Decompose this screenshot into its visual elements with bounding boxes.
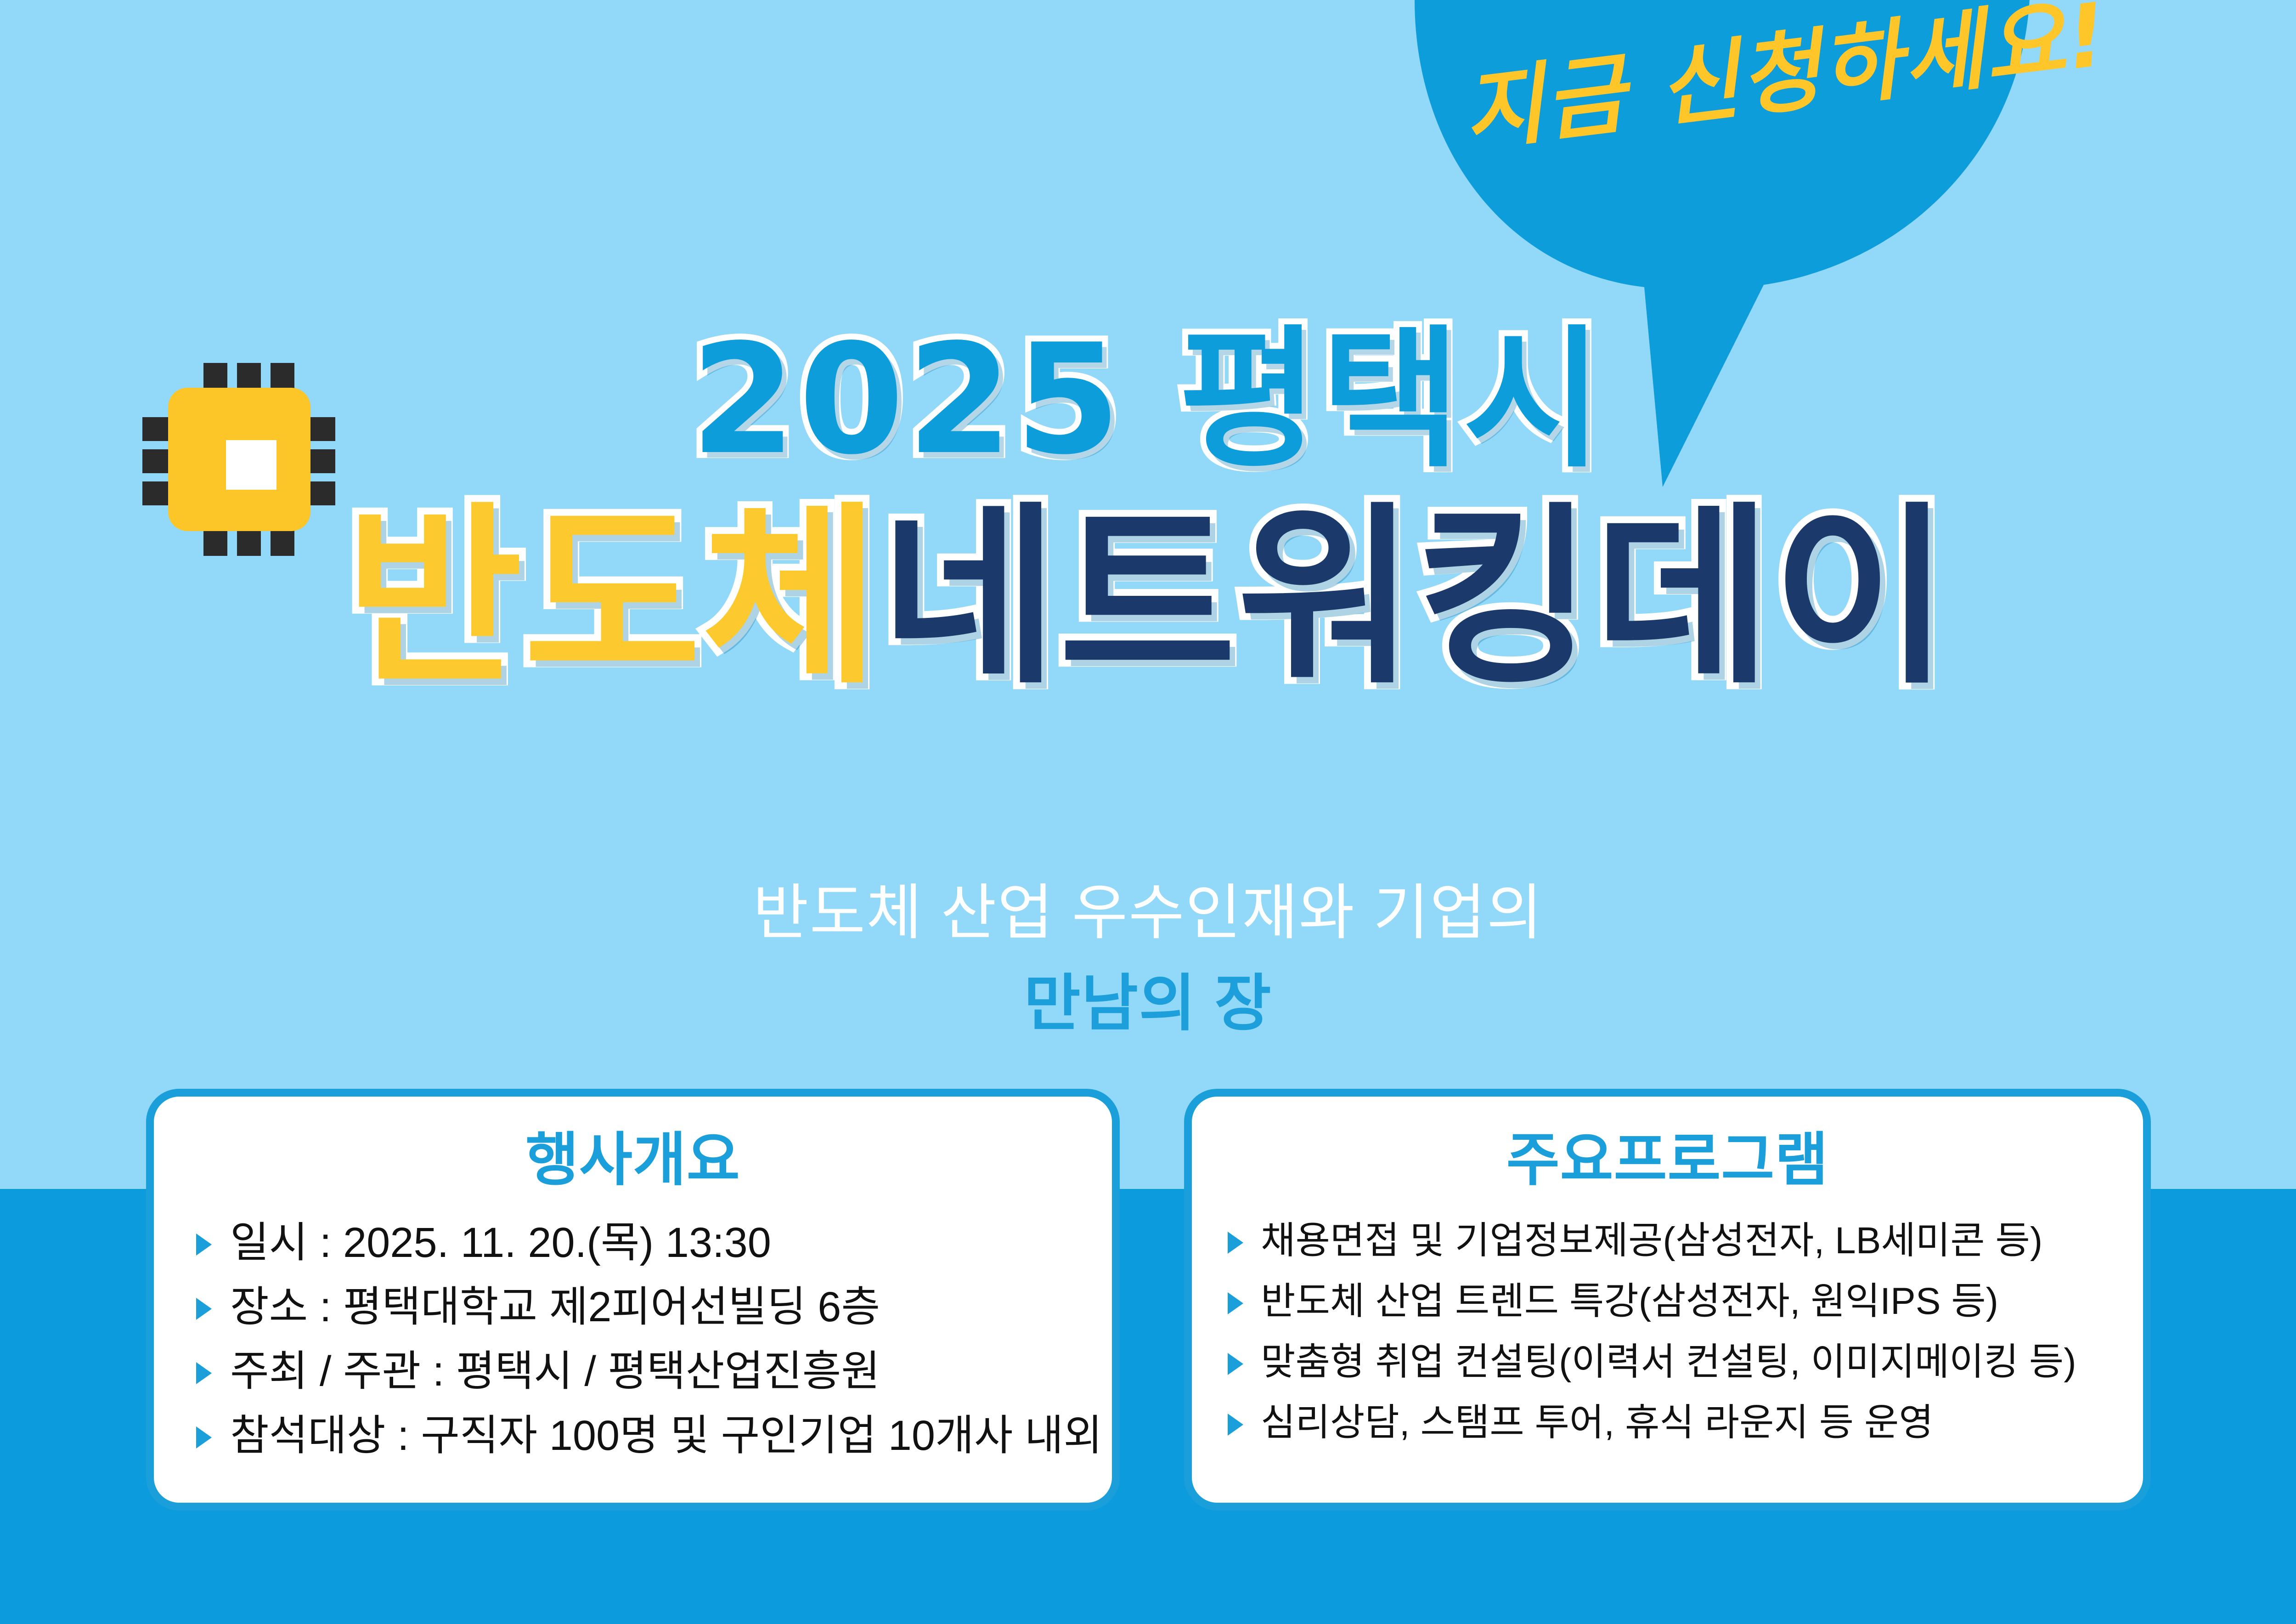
triangle-bullet-icon bbox=[1228, 1232, 1243, 1254]
triangle-bullet-icon bbox=[1228, 1292, 1243, 1314]
subtitle-line-2: 만남의 장 bbox=[1012, 953, 1284, 1042]
list-item-label: 심리상담, 스탬프 투어, 휴식 라운지 등 운영 bbox=[1261, 1401, 1934, 1445]
list-item: 심리상담, 스탬프 투어, 휴식 라운지 등 운영 bbox=[1228, 1401, 2143, 1445]
triangle-bullet-icon bbox=[196, 1362, 212, 1384]
card-main-programs: 주요프로그램 채용면접 및 기업정보제공(삼성전자, LB세미콘 등) 반도체 … bbox=[1184, 1089, 2151, 1511]
subtitle-line-1: 반도체 산업 우수인재와 기업의 bbox=[0, 864, 2296, 951]
card-main-programs-list: 채용면접 및 기업정보제공(삼성전자, LB세미콘 등) 반도체 산업 트렌드 … bbox=[1192, 1219, 2143, 1445]
list-item: 장소 : 평택대학교 제2피어선빌딩 6층 bbox=[196, 1283, 1112, 1331]
triangle-bullet-icon bbox=[196, 1234, 212, 1256]
card-event-overview-list: 일시 : 2025. 11. 20.(목) 13:30 장소 : 평택대학교 제… bbox=[154, 1219, 1112, 1460]
event-poster: 지금 신청하세요! 2025 평택시 반도체네트워 bbox=[0, 0, 2296, 1624]
title-segment-networking-day: 네트워킹데이 bbox=[880, 486, 1951, 710]
list-item-label: 채용면접 및 기업정보제공(삼성전자, LB세미콘 등) bbox=[1261, 1219, 2042, 1263]
triangle-bullet-icon bbox=[1228, 1353, 1243, 1375]
poster-title: 2025 평택시 반도체네트워킹데이 bbox=[0, 322, 2296, 695]
list-item: 반도체 산업 트렌드 특강(삼성전자, 원익IPS 등) bbox=[1228, 1279, 2143, 1324]
list-item-label: 맞춤형 취업 컨설팅(이력서 컨설팅, 이미지메이킹 등) bbox=[1261, 1340, 2076, 1384]
list-item: 일시 : 2025. 11. 20.(목) 13:30 bbox=[196, 1219, 1112, 1267]
triangle-bullet-icon bbox=[196, 1426, 212, 1449]
list-item-label: 일시 : 2025. 11. 20.(목) 13:30 bbox=[230, 1219, 771, 1267]
triangle-bullet-icon bbox=[196, 1298, 212, 1320]
card-main-programs-title: 주요프로그램 bbox=[1192, 1113, 2143, 1197]
list-item: 채용면접 및 기업정보제공(삼성전자, LB세미콘 등) bbox=[1228, 1219, 2143, 1263]
list-item: 맞춤형 취업 컨설팅(이력서 컨설팅, 이미지메이킹 등) bbox=[1228, 1340, 2143, 1384]
list-item-label: 반도체 산업 트렌드 특강(삼성전자, 원익IPS 등) bbox=[1261, 1279, 1998, 1324]
subtitle-line-2-wrap: 만남의 장 bbox=[0, 953, 2296, 1042]
subtitle-line-2-text: 만남의 장 bbox=[1024, 969, 1272, 1038]
card-event-overview-title: 행사개요 bbox=[154, 1113, 1112, 1197]
card-event-overview: 행사개요 일시 : 2025. 11. 20.(목) 13:30 장소 : 평택… bbox=[146, 1089, 1120, 1511]
triangle-bullet-icon bbox=[1228, 1414, 1243, 1436]
title-line-2: 반도체네트워킹데이 bbox=[0, 502, 2296, 695]
list-item-label: 장소 : 평택대학교 제2피어선빌딩 6층 bbox=[230, 1283, 880, 1331]
title-line-1: 2025 평택시 bbox=[0, 322, 2296, 478]
list-item-label: 참석대상 : 구직자 100명 및 구인기업 10개사 내외 bbox=[230, 1412, 1102, 1460]
title-segment-semiconductor: 반도체 bbox=[345, 486, 880, 710]
list-item: 주최 / 주관 : 평택시 / 평택산업진흥원 bbox=[196, 1347, 1112, 1395]
list-item-label: 주최 / 주관 : 평택시 / 평택산업진흥원 bbox=[230, 1347, 880, 1395]
list-item: 참석대상 : 구직자 100명 및 구인기업 10개사 내외 bbox=[196, 1412, 1112, 1460]
